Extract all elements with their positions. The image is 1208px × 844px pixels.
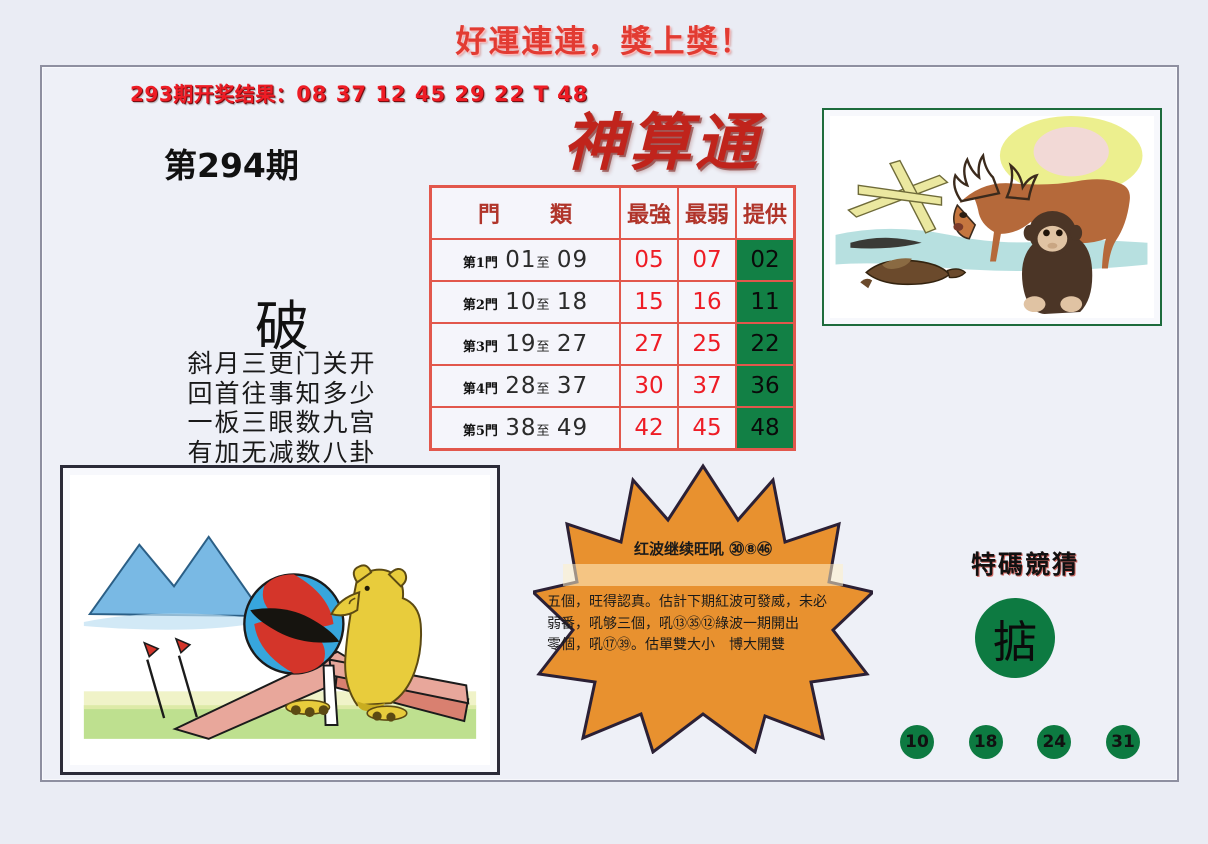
cell-strongest: 15 <box>620 281 678 323</box>
poem-line-1: 斜月三更门关开 <box>152 349 412 379</box>
table-row: 第1門 01至 09 05 07 02 <box>431 239 795 281</box>
highlight-strip <box>563 564 843 586</box>
header-category: 門 類 <box>431 187 621 240</box>
cell-strongest: 05 <box>620 239 678 281</box>
cell-strongest: 42 <box>620 407 678 450</box>
range-to: 27 <box>557 331 588 357</box>
guess-number-ball: 10 <box>900 725 934 759</box>
burst-line-2: 弱番，吼够三個，吼⑬㉟⑫綠波一期開出 <box>547 614 859 636</box>
brand-logo: 神算通 <box>532 92 792 182</box>
illustration-canvas <box>830 116 1154 318</box>
starburst-title: 红波继续旺吼 ㉚⑧㊻ <box>533 538 873 559</box>
cell-weakest: 45 <box>678 407 736 450</box>
range-from: 28 <box>505 373 536 399</box>
table-header-row: 門 類 最強 最弱 提供 <box>431 187 795 240</box>
header-strongest: 最強 <box>620 187 678 240</box>
table-row: 第3門 19至 27 27 25 22 <box>431 323 795 365</box>
poem-block: 斜月三更门关开 回首往事知多少 一板三眼数九宫 有加无减数八卦 <box>152 349 412 467</box>
guess-number-ball: 24 <box>1037 725 1071 759</box>
gate-label: 第4門 <box>463 382 498 397</box>
range-from: 38 <box>505 415 536 441</box>
range-sep: 至 <box>537 256 550 271</box>
poem-line-2: 回首往事知多少 <box>152 379 412 409</box>
header-offer: 提供 <box>736 187 795 240</box>
range-to: 37 <box>557 373 588 399</box>
poster-page: 好運連連，獎上獎！ 293期开奖结果：08 37 12 45 29 22 T 4… <box>0 0 1208 844</box>
guess-number-row: 10 18 24 31 <box>900 725 1140 759</box>
table-row: 第5門 38至 49 42 45 48 <box>431 407 795 450</box>
cell-offer: 48 <box>736 407 795 450</box>
range-sep: 至 <box>537 382 550 397</box>
burst-line-3: 零個，吼⑰㊴。估單雙大小 博大開雙 <box>547 635 859 657</box>
cell-strongest: 27 <box>620 323 678 365</box>
cell-weakest: 25 <box>678 323 736 365</box>
range-sep: 至 <box>537 298 550 313</box>
deer-turtle-monkey-icon <box>830 116 1154 318</box>
poem-line-4: 有加无减数八卦 <box>152 438 412 468</box>
table-row: 第4門 28至 37 30 37 36 <box>431 365 795 407</box>
issue-number: 第294期 <box>164 139 299 187</box>
cell-offer: 11 <box>736 281 795 323</box>
guess-main-ball: 掂 <box>975 598 1055 678</box>
cell-gate-range: 第2門 10至 18 <box>431 281 621 323</box>
range-sep: 至 <box>537 424 550 439</box>
cell-strongest: 30 <box>620 365 678 407</box>
cell-offer: 36 <box>736 365 795 407</box>
starburst-callout: 红波继续旺吼 ㉚⑧㊻ 五個，旺得認真。估計下期紅波可發威，未必 弱番，吼够三個，… <box>533 462 873 754</box>
cell-weakest: 16 <box>678 281 736 323</box>
bear-balancing-ball-icon <box>70 475 490 765</box>
range-from: 01 <box>505 247 536 273</box>
draw-result-line: 293期开奖结果：08 37 12 45 29 22 T 48 <box>130 78 588 107</box>
range-to: 09 <box>557 247 588 273</box>
guess-number-ball: 31 <box>1106 725 1140 759</box>
top-banner-text: 好運連連，獎上獎！ <box>0 16 1208 61</box>
cell-gate-range: 第5門 38至 49 <box>431 407 621 450</box>
cell-offer: 02 <box>736 239 795 281</box>
illustration-top-right <box>822 108 1162 326</box>
gate-label: 第3門 <box>463 340 498 355</box>
table-row: 第2門 10至 18 15 16 11 <box>431 281 795 323</box>
header-weakest: 最弱 <box>678 187 736 240</box>
illustration-canvas <box>70 475 490 765</box>
gate-label: 第1門 <box>463 256 498 271</box>
cell-weakest: 07 <box>678 239 736 281</box>
cell-offer: 22 <box>736 323 795 365</box>
range-to: 49 <box>557 415 588 441</box>
prediction-table: 門 類 最強 最弱 提供 第1門 01至 09 05 07 02 <box>429 185 796 451</box>
range-to: 18 <box>557 289 588 315</box>
illustration-bottom-left <box>60 465 500 775</box>
cell-gate-range: 第1門 01至 09 <box>431 239 621 281</box>
range-from: 10 <box>505 289 536 315</box>
poem-line-3: 一板三眼数九宫 <box>152 408 412 438</box>
range-sep: 至 <box>537 340 550 355</box>
guess-section-title: 特碼競猜 <box>920 545 1130 581</box>
burst-line-1: 五個，旺得認真。估計下期紅波可發威，未必 <box>547 592 859 614</box>
starburst-text: 红波继续旺吼 ㉚⑧㊻ 五個，旺得認真。估計下期紅波可發威，未必 弱番，吼够三個，… <box>533 462 873 754</box>
cell-weakest: 37 <box>678 365 736 407</box>
cell-gate-range: 第3門 19至 27 <box>431 323 621 365</box>
starburst-body: 五個，旺得認真。估計下期紅波可發威，未必 弱番，吼够三個，吼⑬㉟⑫綠波一期開出 … <box>547 592 859 657</box>
guess-number-ball: 18 <box>969 725 1003 759</box>
range-from: 19 <box>505 331 536 357</box>
cell-gate-range: 第4門 28至 37 <box>431 365 621 407</box>
gate-label: 第5門 <box>463 424 498 439</box>
gate-label: 第2門 <box>463 298 498 313</box>
draw-result-label: 293期开奖结果： <box>130 82 296 106</box>
